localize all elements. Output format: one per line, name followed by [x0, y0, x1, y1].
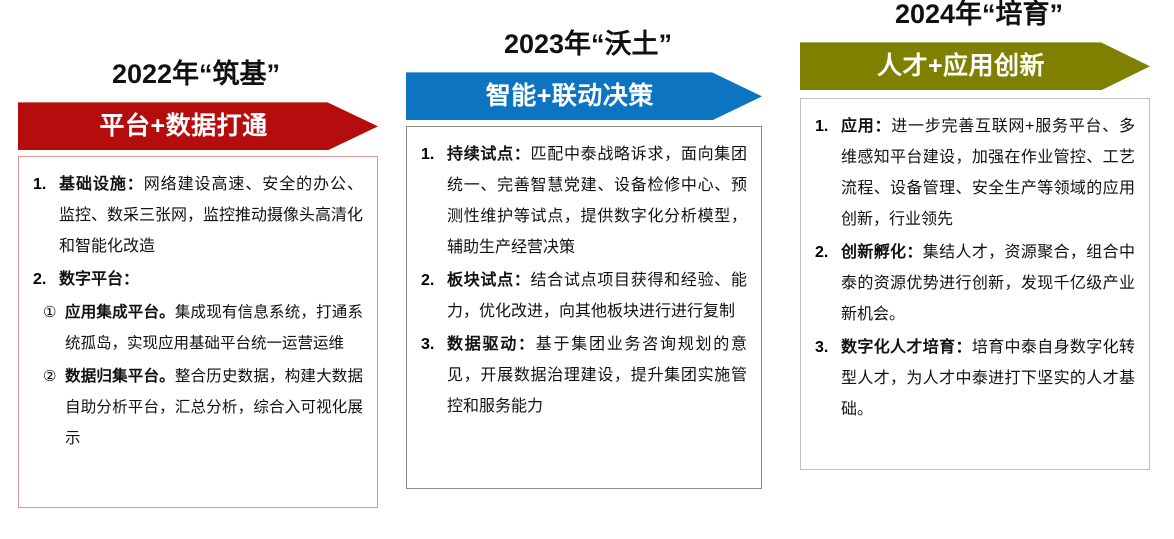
- list-item: 3. 数字化人才培育：培育中泰自身数字化转型人才，为人才中泰进打下坚实的人才基础…: [807, 332, 1135, 425]
- item-lead: 持续试点：: [447, 146, 531, 163]
- item-marker: ②: [25, 361, 65, 392]
- content-box-2022: 1. 基础设施：网络建设高速、安全的办公、监控、数采三张网，监控推动摄像头高清化…: [18, 156, 378, 508]
- list-item: 1. 应用：进一步完善互联网+服务平台、多维感知平台建设，加强在作业管控、工艺流…: [807, 111, 1135, 235]
- list-item: 2. 数字平台：: [25, 264, 363, 295]
- banner-arrow-2023: 智能+联动决策: [406, 72, 762, 120]
- item-lead: 创新孵化：: [841, 244, 923, 261]
- year-title-2023: 2023年“沃土”: [392, 30, 784, 58]
- content-box-2023: 1. 持续试点：匹配中泰战略诉求，面向集团统一、完善智慧党建、设备检修中心、预测…: [406, 126, 762, 489]
- item-marker: 2.: [413, 265, 447, 296]
- item-text: 数字化人才培育：培育中泰自身数字化转型人才，为人才中泰进打下坚实的人才基础。: [841, 332, 1135, 425]
- item-lead: 数字化人才培育：: [841, 339, 972, 356]
- banner-wrap-2022: 平台+数据打通: [18, 102, 378, 150]
- item-text: 应用：进一步完善互联网+服务平台、多维感知平台建设，加强在作业管控、工艺流程、设…: [841, 111, 1135, 235]
- item-list-2024: 1. 应用：进一步完善互联网+服务平台、多维感知平台建设，加强在作业管控、工艺流…: [807, 111, 1135, 425]
- list-item: 2. 板块试点：结合试点项目获得和经验、能力，优化改进，向其他板块进行进行复制: [413, 265, 747, 327]
- list-item: 2. 创新孵化：集结人才，资源聚合，组合中泰的资源优势进行创新，发现千亿级产业新…: [807, 237, 1135, 330]
- banner-arrow-2024: 人才+应用创新: [800, 42, 1150, 90]
- content-box-2024: 1. 应用：进一步完善互联网+服务平台、多维感知平台建设，加强在作业管控、工艺流…: [800, 98, 1150, 470]
- sub-item-list-2022: ① 应用集成平台。集成现有信息系统，打通系统孤岛，实现应用基础平台统一运营运维 …: [25, 297, 363, 454]
- roadmap-board: 2022年“筑基” 平台+数据打通 1. 基础设施：网络建设高速、安全的办公、监…: [0, 0, 1174, 539]
- item-lead: 数字平台：: [59, 271, 139, 288]
- list-item: 1. 基础设施：网络建设高速、安全的办公、监控、数采三张网，监控推动摄像头高清化…: [25, 169, 363, 262]
- banner-label-2024: 人才+应用创新: [877, 54, 1045, 79]
- banner-label-2022: 平台+数据打通: [100, 114, 268, 139]
- item-text: 数字平台：: [59, 264, 363, 295]
- roadmap-column-2023: 2023年“沃土” 智能+联动决策 1. 持续试点：匹配中泰战略诉求，面向集团统…: [392, 30, 784, 489]
- item-text: 应用集成平台。集成现有信息系统，打通系统孤岛，实现应用基础平台统一运营运维: [65, 297, 363, 359]
- item-text: 创新孵化：集结人才，资源聚合，组合中泰的资源优势进行创新，发现千亿级产业新机会。: [841, 237, 1135, 330]
- banner-wrap-2024: 人才+应用创新: [800, 42, 1150, 90]
- item-lead: 应用：: [841, 118, 891, 135]
- item-lead: 基础设施：: [59, 176, 144, 193]
- year-title-2022: 2022年“筑基”: [0, 60, 392, 88]
- item-marker: ①: [25, 297, 65, 328]
- banner-arrow-2022: 平台+数据打通: [18, 102, 378, 150]
- item-text: 持续试点：匹配中泰战略诉求，面向集团统一、完善智慧党建、设备检修中心、预测性维护…: [447, 139, 747, 263]
- item-marker: 3.: [413, 329, 447, 360]
- list-item: 3. 数据驱动：基于集团业务咨询规划的意见，开展数据治理建设，提升集团实施管控和…: [413, 329, 747, 422]
- item-text: 数据驱动：基于集团业务咨询规划的意见，开展数据治理建设，提升集团实施管控和服务能…: [447, 329, 747, 422]
- item-lead: 板块试点：: [447, 272, 531, 289]
- list-item: ① 应用集成平台。集成现有信息系统，打通系统孤岛，实现应用基础平台统一运营运维: [25, 297, 363, 359]
- item-lead: 数据驱动：: [447, 336, 536, 353]
- item-marker: 2.: [807, 237, 841, 268]
- item-text: 基础设施：网络建设高速、安全的办公、监控、数采三张网，监控推动摄像头高清化和智能…: [59, 169, 363, 262]
- banner-wrap-2023: 智能+联动决策: [406, 72, 762, 120]
- banner-label-2023: 智能+联动决策: [486, 84, 654, 109]
- item-marker: 1.: [25, 169, 59, 200]
- list-item: 1. 持续试点：匹配中泰战略诉求，面向集团统一、完善智慧党建、设备检修中心、预测…: [413, 139, 747, 263]
- item-marker: 2.: [25, 264, 59, 295]
- year-title-2024: 2024年“培育”: [784, 0, 1174, 28]
- roadmap-column-2024: 2024年“培育” 人才+应用创新 1. 应用：进一步完善互联网+服务平台、多维…: [784, 0, 1174, 470]
- item-list-2022: 1. 基础设施：网络建设高速、安全的办公、监控、数采三张网，监控推动摄像头高清化…: [25, 169, 363, 454]
- item-text: 板块试点：结合试点项目获得和经验、能力，优化改进，向其他板块进行进行复制: [447, 265, 747, 327]
- item-lead: 数据归集平台。: [65, 368, 175, 385]
- item-lead: 应用集成平台。: [65, 304, 175, 321]
- item-marker: 1.: [413, 139, 447, 170]
- item-marker: 3.: [807, 332, 841, 363]
- item-list-2023: 1. 持续试点：匹配中泰战略诉求，面向集团统一、完善智慧党建、设备检修中心、预测…: [413, 139, 747, 422]
- item-text: 数据归集平台。整合历史数据，构建大数据自助分析平台，汇总分析，综合入可视化展示: [65, 361, 363, 454]
- list-item: ② 数据归集平台。整合历史数据，构建大数据自助分析平台，汇总分析，综合入可视化展…: [25, 361, 363, 454]
- roadmap-column-2022: 2022年“筑基” 平台+数据打通 1. 基础设施：网络建设高速、安全的办公、监…: [0, 60, 392, 508]
- item-marker: 1.: [807, 111, 841, 142]
